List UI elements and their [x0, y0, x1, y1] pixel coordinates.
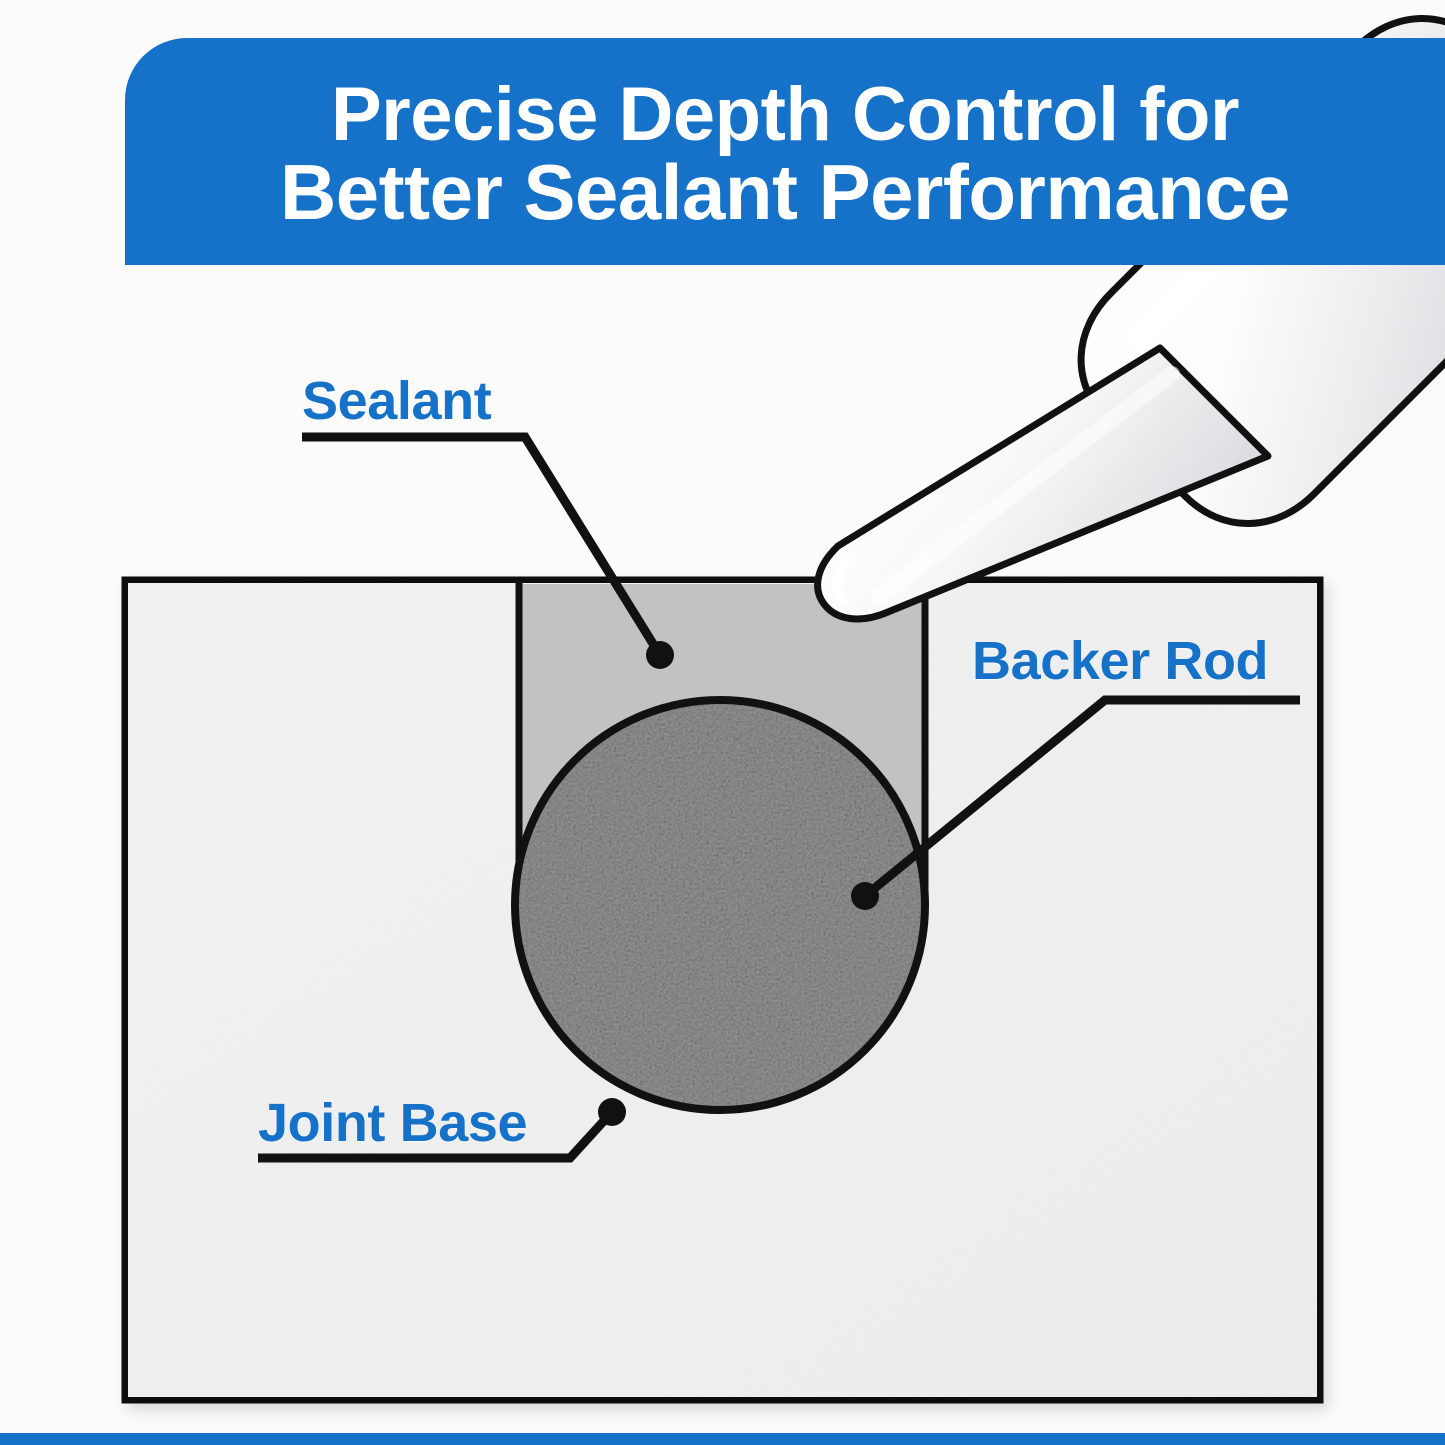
- label-joint-base: Joint Base: [258, 1092, 527, 1154]
- leader-backer-rod-dot: [851, 882, 879, 910]
- label-backer-rod: Backer Rod: [972, 630, 1268, 692]
- bottom-accent-bar: [0, 1433, 1445, 1445]
- diagram-canvas: Precise Depth Control for Better Sealant…: [0, 0, 1445, 1445]
- banner-title-line-2: Better Sealant Performance: [151, 153, 1419, 233]
- banner-title-line-1: Precise Depth Control for: [151, 76, 1419, 154]
- leader-joint-base-dot: [598, 1098, 626, 1126]
- leader-sealant-dot: [646, 641, 674, 669]
- label-sealant: Sealant: [302, 370, 491, 432]
- title-banner: Precise Depth Control for Better Sealant…: [125, 38, 1445, 265]
